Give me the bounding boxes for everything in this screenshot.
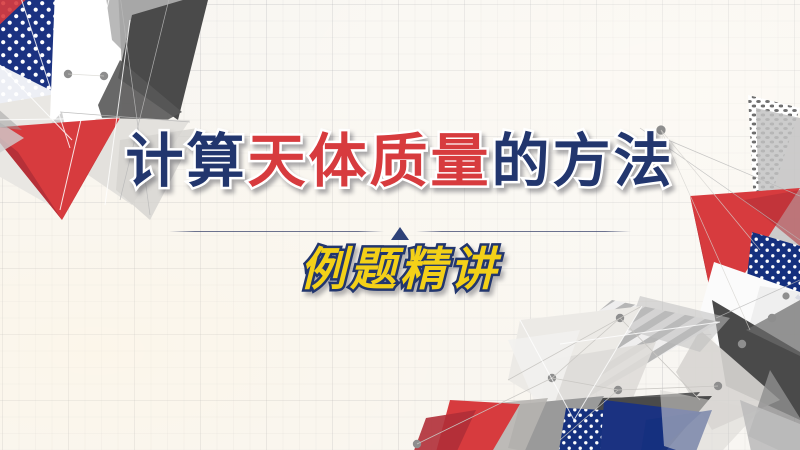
title-segment-3: 的方法 <box>492 132 675 190</box>
slide-canvas: 计算天体质量的方法 例题精讲 <box>0 0 800 450</box>
title-segment-2: 天体质量 <box>247 132 491 190</box>
triangle-up-icon <box>391 227 409 240</box>
page-subtitle: 例题精讲 <box>300 246 500 292</box>
divider-line-right <box>416 231 631 232</box>
title-block: 计算天体质量的方法 <box>0 132 800 190</box>
divider-line-left <box>169 231 384 232</box>
title-divider <box>0 225 800 238</box>
subtitle-block: 例题精讲 <box>0 246 800 292</box>
title-segment-1: 计算 <box>125 132 247 190</box>
page-title: 计算天体质量的方法 <box>0 132 800 190</box>
